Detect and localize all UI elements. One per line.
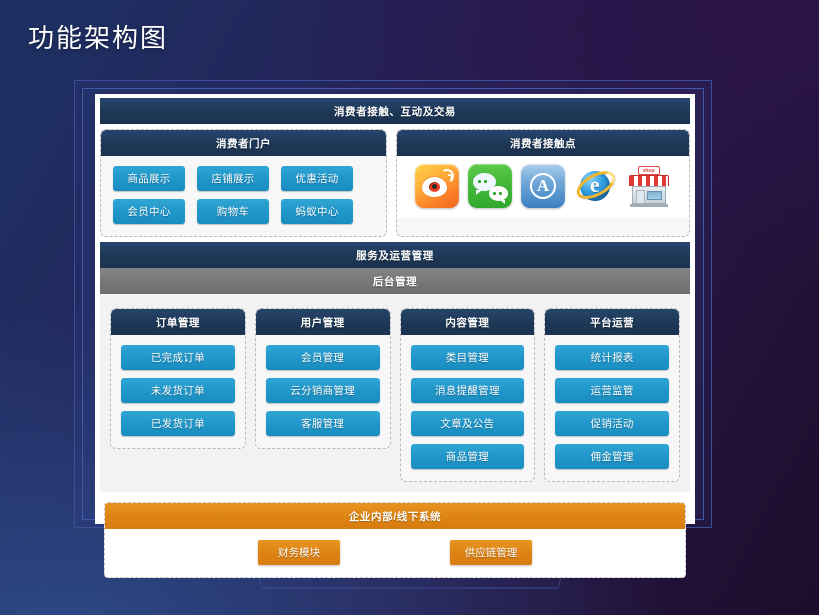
appstore-glyph: A [537, 177, 549, 194]
portal-button-ant-center[interactable]: 蚂蚁中心 [281, 199, 353, 224]
content-button-categories[interactable]: 类目管理 [411, 345, 525, 370]
portal-button-shop-display[interactable]: 店铺展示 [197, 166, 269, 191]
diagram-canvas: 消费者接触、互动及交易 消费者门户 商品展示 店铺展示 优惠活动 会员中心 购物… [95, 94, 695, 524]
order-button-shipped[interactable]: 已发货订单 [121, 411, 235, 436]
wechat-bubble-dot [478, 180, 481, 183]
touchpoint-icon-strip: A shop [397, 156, 689, 218]
group-content-management: 内容管理 类目管理 消息提醒管理 文章及公告 商品管理 [400, 308, 536, 482]
portal-button-shopping-cart[interactable]: 购物车 [197, 199, 269, 224]
wechat-icon[interactable] [468, 164, 512, 208]
consumer-layer-row: 消费者门户 商品展示 店铺展示 优惠活动 会员中心 购物车 蚂蚁中心 消费者接触… [100, 129, 690, 237]
order-button-completed[interactable]: 已完成订单 [121, 345, 235, 370]
offline-systems-header: 企业内部/线下系统 [105, 503, 685, 529]
order-button-unshipped[interactable]: 未发货订单 [121, 378, 235, 403]
offline-store-icon[interactable]: shop [627, 164, 671, 208]
group-consumer-touchpoints-body: A shop [397, 156, 689, 218]
wechat-bubble-small [489, 186, 508, 201]
offline-button-supply-chain[interactable]: 供应链管理 [450, 540, 532, 565]
backstage-columns: 订单管理 已完成订单 未发货订单 已发货订单 用户管理 会员管理 云分销商管理 … [105, 301, 685, 482]
group-content-management-body: 类目管理 消息提醒管理 文章及公告 商品管理 [401, 335, 535, 481]
group-consumer-touchpoints: 消费者接触点 [396, 129, 690, 237]
backstage-section: 订单管理 已完成订单 未发货订单 已发货订单 用户管理 会员管理 云分销商管理 … [100, 294, 690, 492]
store-base [630, 204, 668, 207]
platform-button-promotions[interactable]: 促销活动 [555, 411, 669, 436]
store-window [647, 191, 662, 200]
layer-consumer-header: 消费者接触、互动及交易 [100, 98, 690, 124]
platform-button-commission[interactable]: 佣金管理 [555, 444, 669, 469]
portal-button-grid: 商品展示 店铺展示 优惠活动 会员中心 购物车 蚂蚁中心 [101, 156, 386, 236]
store-door [636, 190, 645, 204]
portal-button-goods-display[interactable]: 商品展示 [113, 166, 185, 191]
wechat-bubble-dot [484, 180, 487, 183]
layer-service-header: 服务及运营管理 [100, 242, 690, 268]
group-consumer-touchpoints-title: 消费者接触点 [397, 130, 689, 156]
group-consumer-portal: 消费者门户 商品展示 店铺展示 优惠活动 会员中心 购物车 蚂蚁中心 [100, 129, 387, 237]
offline-systems-button-row: 财务模块 供应链管理 [105, 529, 685, 577]
group-platform-operations-body: 统计报表 运营监管 促销活动 佣金管理 [545, 335, 679, 481]
order-management-button-list: 已完成订单 未发货订单 已发货订单 [111, 335, 245, 448]
appstore-icon[interactable]: A [521, 164, 565, 208]
group-user-management: 用户管理 会员管理 云分销商管理 客服管理 [255, 308, 391, 449]
weibo-icon[interactable] [415, 164, 459, 208]
internet-explorer-icon[interactable] [574, 164, 618, 208]
content-button-message-alerts[interactable]: 消息提醒管理 [411, 378, 525, 403]
content-management-button-list: 类目管理 消息提醒管理 文章及公告 商品管理 [401, 335, 535, 481]
group-user-management-body: 会员管理 云分销商管理 客服管理 [256, 335, 390, 448]
user-management-button-list: 会员管理 云分销商管理 客服管理 [256, 335, 390, 448]
group-consumer-portal-title: 消费者门户 [101, 130, 386, 156]
portal-button-member-center[interactable]: 会员中心 [113, 199, 185, 224]
platform-operations-button-list: 统计报表 运营监管 促销活动 佣金管理 [545, 335, 679, 481]
store-signboard: shop [638, 166, 660, 175]
platform-button-statistics-reports[interactable]: 统计报表 [555, 345, 669, 370]
group-order-management: 订单管理 已完成订单 未发货订单 已发货订单 [110, 308, 246, 449]
user-button-cloud-distributors[interactable]: 云分销商管理 [266, 378, 380, 403]
content-button-goods[interactable]: 商品管理 [411, 444, 525, 469]
platform-button-operations-supervision[interactable]: 运营监管 [555, 378, 669, 403]
portal-button-promotions[interactable]: 优惠活动 [281, 166, 353, 191]
store-awning [629, 175, 669, 186]
wechat-bubble-dot [499, 192, 502, 195]
store-building [632, 186, 666, 204]
offline-button-finance-module[interactable]: 财务模块 [258, 540, 340, 565]
backstage-header: 后台管理 [100, 268, 690, 294]
group-order-management-title: 订单管理 [111, 309, 245, 335]
page-title: 功能架构图 [28, 18, 168, 55]
group-user-management-title: 用户管理 [256, 309, 390, 335]
user-button-members[interactable]: 会员管理 [266, 345, 380, 370]
wechat-bubble-dot [493, 192, 496, 195]
user-button-customer-service[interactable]: 客服管理 [266, 411, 380, 436]
group-offline-systems: 企业内部/线下系统 财务模块 供应链管理 [104, 502, 686, 578]
group-consumer-portal-body: 商品展示 店铺展示 优惠活动 会员中心 购物车 蚂蚁中心 [101, 156, 386, 236]
group-platform-operations: 平台运营 统计报表 运营监管 促销活动 佣金管理 [544, 308, 680, 482]
group-content-management-title: 内容管理 [401, 309, 535, 335]
group-platform-operations-title: 平台运营 [545, 309, 679, 335]
group-order-management-body: 已完成订单 未发货订单 已发货订单 [111, 335, 245, 448]
content-button-articles-notices[interactable]: 文章及公告 [411, 411, 525, 436]
